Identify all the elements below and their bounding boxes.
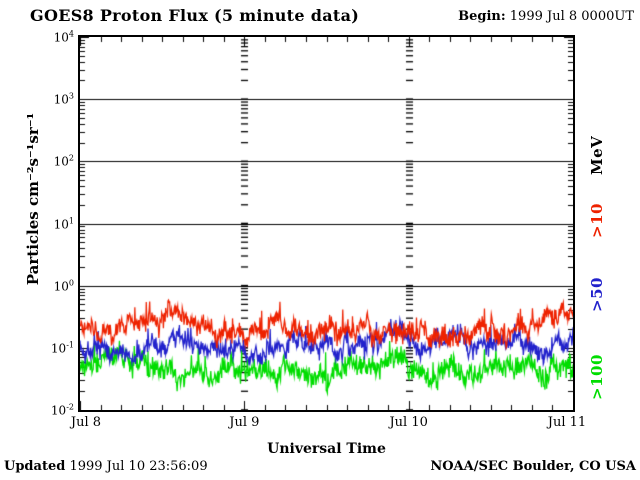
updated-value: 1999 Jul 10 23:56:09: [69, 459, 207, 474]
y-axis-label: Particles cm⁻²s⁻¹sr⁻¹: [24, 69, 42, 329]
energy-label-gt10: >10: [588, 203, 606, 238]
updated-label: Updated: [4, 459, 65, 474]
y-tick-label: 100: [54, 279, 74, 292]
y-tick-label: 101: [54, 217, 74, 230]
begin-label: Begin:: [458, 9, 506, 24]
plot-area: [78, 35, 575, 412]
proton-flux-plot: GOES8 Proton Flux (5 minute data) Begin:…: [0, 0, 640, 480]
mev-unit-label: MeV: [588, 136, 606, 175]
y-tick-label: 102: [54, 155, 74, 168]
x-axis-label: Universal Time: [78, 441, 575, 457]
flux-canvas: [80, 37, 573, 410]
x-tick-label: Jul 8: [71, 415, 101, 430]
y-tick-label: 103: [54, 93, 74, 106]
begin-value: 1999 Jul 8 0000UT: [510, 9, 634, 24]
y-tick-label: 104: [54, 31, 74, 44]
y-tick-label: 10-1: [51, 341, 74, 354]
page-title: GOES8 Proton Flux (5 minute data): [30, 6, 359, 25]
plot-canvas-wrap: [80, 37, 573, 410]
x-tick-label: Jul 9: [229, 415, 259, 430]
x-tick-label: Jul 11: [548, 415, 586, 430]
x-tick-label: Jul 10: [389, 415, 427, 430]
credit-text: NOAA/SEC Boulder, CO USA: [430, 459, 636, 474]
energy-label-gt50: >50: [588, 277, 606, 312]
begin-time: Begin: 1999 Jul 8 0000UT: [458, 9, 634, 24]
x-axis-ticks: Jul 8Jul 9Jul 10Jul 11: [0, 415, 640, 433]
updated-timestamp: Updated 1999 Jul 10 23:56:09: [4, 459, 208, 474]
energy-label-gt100: >100: [588, 354, 606, 400]
